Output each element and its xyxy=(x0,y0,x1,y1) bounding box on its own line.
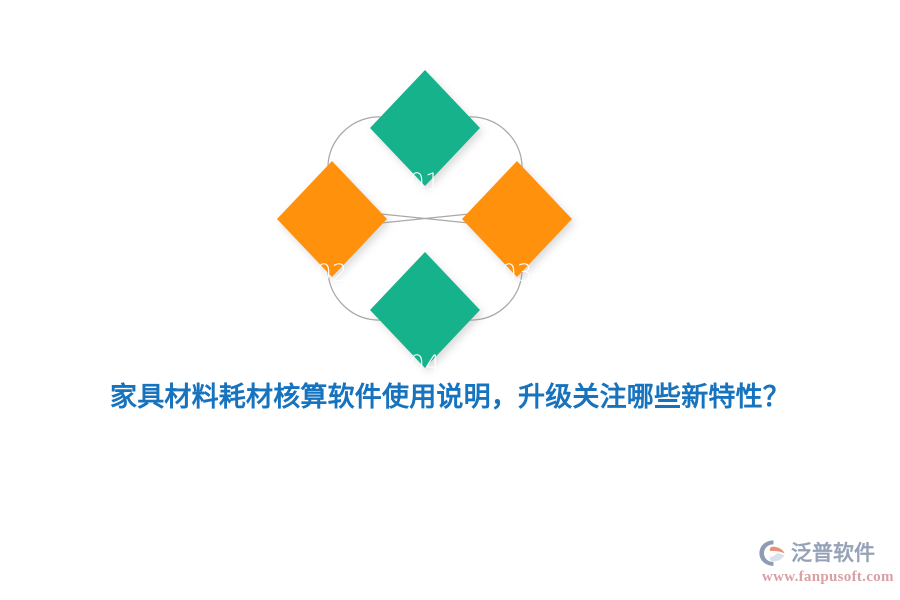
watermark-url-text: www.fanpusoft.com xyxy=(762,568,894,586)
page-canvas: 01 02 03 04 家具材料耗材核算软件使用说明，升级关注哪些新特性？ 泛普… xyxy=(0,0,900,600)
watermark-brand-row: 泛普软件 xyxy=(758,538,875,568)
diamond-node-03[interactable] xyxy=(462,161,572,277)
diagram-svg xyxy=(265,58,585,380)
diamond-cluster-diagram: 01 02 03 04 xyxy=(265,58,585,380)
diamond-node-01[interactable] xyxy=(370,70,480,186)
watermark: 泛普软件 www.fanpusoft.com xyxy=(758,536,894,594)
diamond-node-02[interactable] xyxy=(277,161,387,277)
diamond-node-04[interactable] xyxy=(370,252,480,368)
watermark-brand-text: 泛普软件 xyxy=(791,541,875,565)
fanpu-logo-icon xyxy=(758,538,788,568)
page-title: 家具材料耗材核算软件使用说明，升级关注哪些新特性？ xyxy=(0,378,900,418)
